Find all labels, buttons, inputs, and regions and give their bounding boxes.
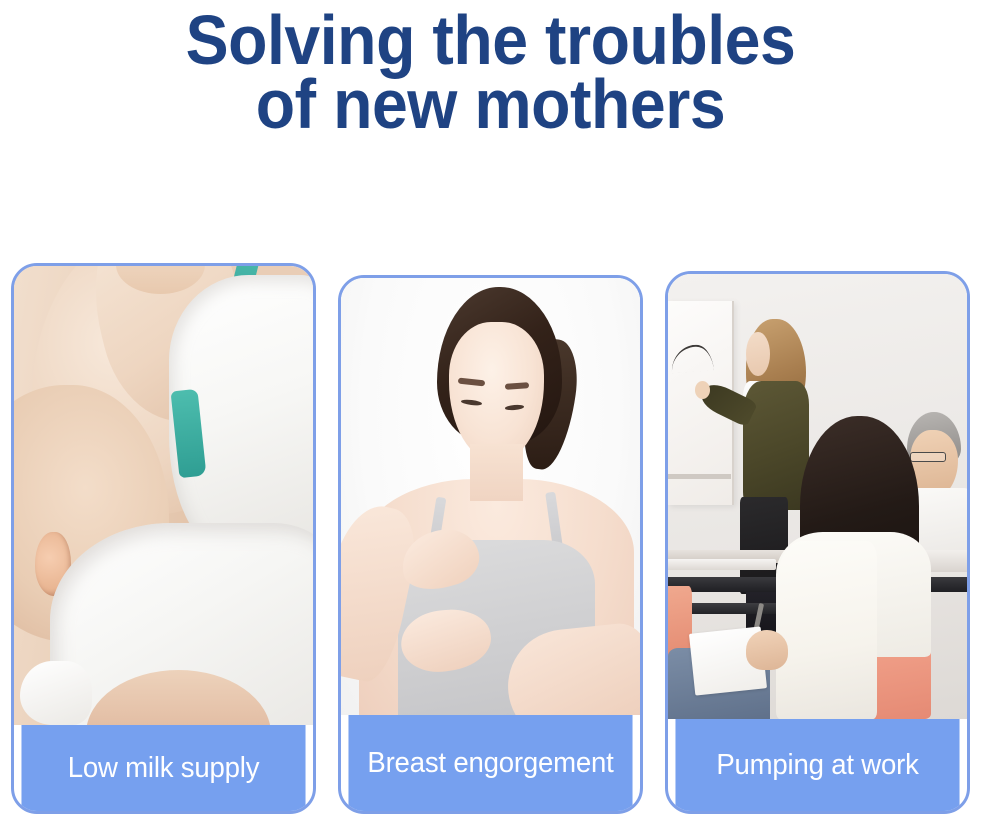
page-title-line-2: of new mothers: [39, 72, 942, 136]
page-title: Solving the troubles of new mothers: [39, 8, 942, 136]
engorgement-photo: [341, 278, 640, 715]
trouble-card-list: Low milk supply: [0, 265, 981, 822]
card-photo-breast-engorgement: [341, 278, 640, 715]
page-title-line-1: Solving the troubles: [39, 8, 942, 72]
card-label-breast-engorgement: Breast engorgement: [348, 715, 632, 811]
card-label-pumping-at-work: Pumping at work: [675, 719, 959, 811]
office-meeting-photo: [668, 274, 967, 719]
breastfeeding-photo: [14, 266, 313, 725]
trouble-card-low-milk-supply[interactable]: Low milk supply: [11, 263, 316, 814]
card-photo-pumping-at-work: [668, 274, 967, 719]
card-photo-low-milk-supply: [14, 266, 313, 725]
promo-banner: Solving the troubles of new mothers: [0, 0, 981, 822]
trouble-card-breast-engorgement[interactable]: Breast engorgement: [338, 275, 643, 814]
card-label-low-milk-supply: Low milk supply: [21, 725, 305, 811]
trouble-card-pumping-at-work[interactable]: Pumping at work: [665, 271, 970, 814]
